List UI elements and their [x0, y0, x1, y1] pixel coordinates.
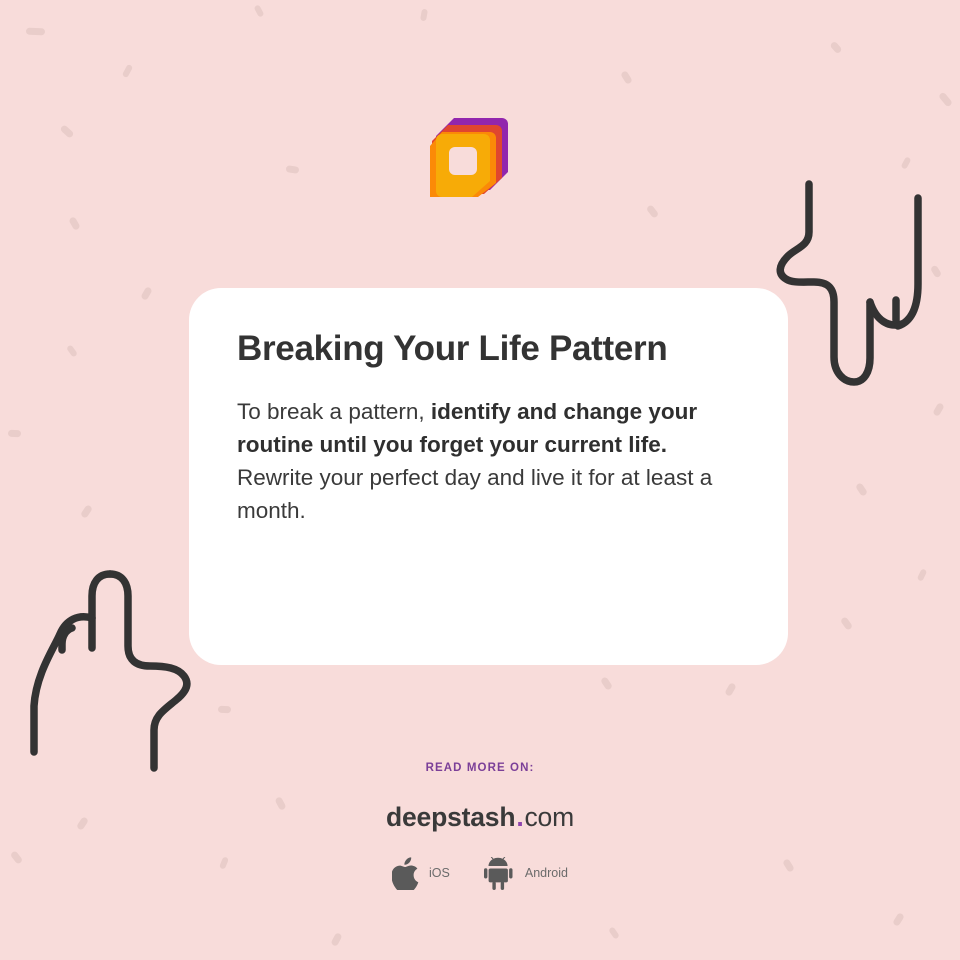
confetti-dash [620, 70, 633, 85]
confetti-dash [122, 64, 133, 78]
page-title: Breaking Your Life Pattern [237, 328, 740, 369]
logo-inner-cutout [449, 147, 477, 175]
confetti-dash [140, 286, 153, 301]
confetti-dash [930, 265, 942, 279]
confetti-dash [724, 682, 737, 697]
body-lead-text: To break a pattern, [237, 399, 431, 424]
deepstash-logo [428, 100, 520, 200]
read-more-label: READ MORE ON: [0, 762, 960, 774]
confetti-dash [218, 706, 231, 713]
poster-canvas: Breaking Your Life Pattern To break a pa… [0, 0, 960, 960]
confetti-dash [80, 504, 93, 519]
wordmark-name: deepstash [386, 802, 515, 832]
apple-icon [392, 857, 420, 890]
confetti-dash [829, 41, 842, 55]
confetti-dash [901, 156, 912, 169]
confetti-dash [917, 568, 928, 581]
body-trail-text: Rewrite your perfect day and live it for… [237, 465, 712, 523]
quote-card: Breaking Your Life Pattern To break a pa… [189, 288, 788, 665]
android-store-link[interactable]: Android [484, 857, 568, 890]
confetti-dash [254, 4, 265, 17]
confetti-dash [608, 926, 620, 939]
confetti-dash [66, 344, 78, 357]
confetti-dash [286, 165, 300, 174]
brand-wordmark[interactable]: deepstash.com [0, 804, 960, 831]
confetti-dash [840, 616, 853, 631]
confetti-dash [8, 430, 21, 437]
confetti-dash [646, 204, 660, 219]
confetti-dash [330, 932, 342, 947]
confetti-dash [932, 402, 945, 417]
confetti-dash [26, 28, 45, 36]
wordmark-tld: com [524, 802, 573, 832]
confetti-dash [600, 676, 613, 691]
card-body-text: To break a pattern, identify and change … [237, 395, 737, 527]
pointing-hand-bottom-left-icon [18, 556, 208, 781]
ios-store-link[interactable]: iOS [392, 857, 450, 890]
confetti-dash [420, 9, 428, 22]
android-label: Android [525, 866, 568, 880]
confetti-dash [938, 92, 953, 108]
confetti-dash [892, 912, 905, 927]
ios-label: iOS [429, 866, 450, 880]
app-store-links: iOS Android [0, 857, 960, 890]
confetti-dash [855, 482, 868, 497]
confetti-dash [59, 124, 74, 139]
footer: READ MORE ON: deepstash.com iOS [0, 762, 960, 890]
confetti-dash [68, 216, 81, 231]
android-icon [484, 857, 516, 890]
